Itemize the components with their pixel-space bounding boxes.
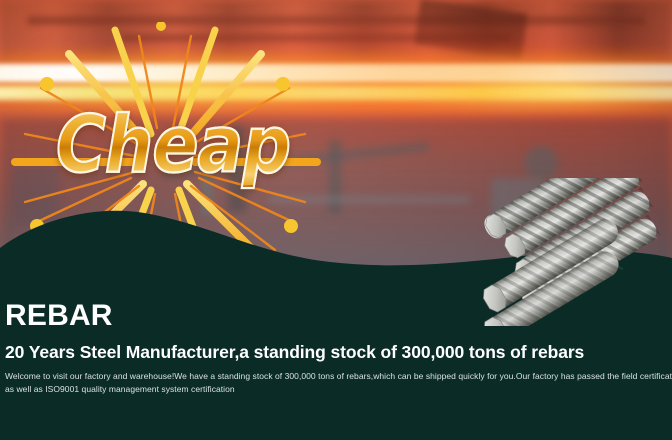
banner-text-block: REBAR 20 Years Steel Manufacturer,a stan… bbox=[5, 300, 672, 396]
body-copy: Welcome to visit our factory and warehou… bbox=[5, 370, 672, 396]
page-title: REBAR bbox=[5, 300, 672, 332]
body-copy-line-1: Welcome to visit our factory and warehou… bbox=[5, 370, 672, 383]
body-copy-line-2: as well as ISO9001 quality management sy… bbox=[5, 383, 672, 396]
promo-banner: Cheap bbox=[0, 0, 672, 440]
subtitle: 20 Years Steel Manufacturer,a standing s… bbox=[5, 342, 672, 362]
cheap-badge-text: Cheap bbox=[56, 107, 290, 186]
